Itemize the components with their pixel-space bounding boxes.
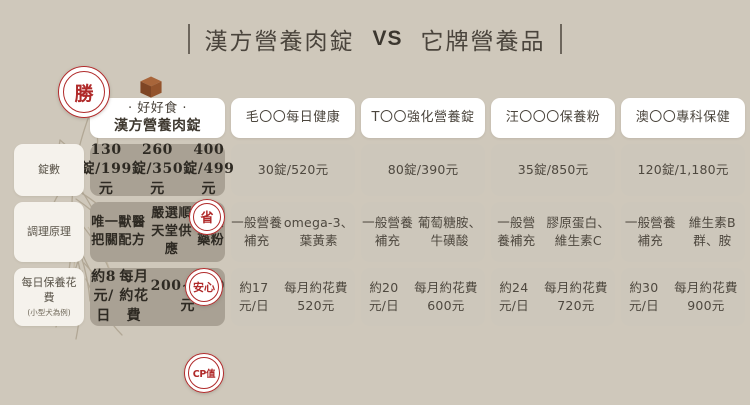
- title-vs: VS: [368, 27, 406, 51]
- badge-win-label: 勝: [63, 71, 105, 113]
- column-header-own-line1: · 好好食 ·: [114, 101, 201, 117]
- row-label-tablet-count-text: 錠數: [38, 163, 60, 178]
- cell-rival1-tablet-count: 30錠/520元: [231, 144, 355, 196]
- cell-rival4-tablet-count: 120錠/1,180元: [621, 144, 745, 196]
- badge-save: 省: [189, 199, 225, 235]
- title-left-bar: [188, 24, 190, 54]
- row-label-principle: 調理原理: [14, 202, 84, 262]
- meat-tablet-cube-icon: [138, 74, 164, 100]
- cell-rival2-principle: 一般營養補充葡萄糖胺、牛磺酸: [361, 202, 485, 262]
- row-label-principle-text: 調理原理: [27, 225, 71, 240]
- cell-rival4-daily-cost: 約30元/日每月約花費900元: [621, 268, 745, 326]
- title-right-bar: [560, 24, 562, 54]
- row-label-daily-cost-text: 每日保養花費: [17, 276, 81, 306]
- cell-rival4-principle: 一般營養補充維生素B群、胺: [621, 202, 745, 262]
- column-header-rival2: T〇〇強化營養錠: [361, 98, 485, 138]
- column-header-own: · 好好食 · 漢方營養肉錠: [90, 98, 225, 138]
- cell-rival3-principle: 一般營養補充膠原蛋白、維生素C: [491, 202, 615, 262]
- row-label-daily-cost-note: (小型犬為例): [27, 308, 70, 318]
- cell-rival1-daily-cost: 約17元/日每月約花費520元: [231, 268, 355, 326]
- comparison-infographic: 漢方營養肉錠 VS 它牌營養品 勝 省 安心 CP值 · 好好食 · 漢方營養肉…: [0, 0, 750, 405]
- column-header-rival4: 澳〇〇專科保健: [621, 98, 745, 138]
- cell-rival3-tablet-count: 35錠/850元: [491, 144, 615, 196]
- row-label-tablet-count: 錠數: [14, 144, 84, 196]
- column-header-rival3: 汪〇〇〇保養粉: [491, 98, 615, 138]
- cell-rival2-daily-cost: 約20元/日每月約花費600元: [361, 268, 485, 326]
- badge-save-label: 省: [193, 203, 222, 232]
- badge-cp-label: CP值: [188, 357, 220, 389]
- page-title: 漢方營養肉錠 VS 它牌營養品: [0, 18, 750, 60]
- badge-cp: CP值: [184, 353, 224, 393]
- cell-own-tablet-count: 130錠/199元260錠/350元400錠/499元: [90, 144, 225, 196]
- column-header-rival1: 毛〇〇每日健康: [231, 98, 355, 138]
- comparison-table: · 好好食 · 漢方營養肉錠 毛〇〇每日健康 T〇〇強化營養錠 汪〇〇〇保養粉 …: [14, 98, 740, 368]
- badge-safe: 安心: [185, 268, 223, 306]
- title-product: 漢方營養肉錠: [204, 22, 354, 56]
- cell-rival2-tablet-count: 80錠/390元: [361, 144, 485, 196]
- cell-rival1-principle: 一般營養補充omega-3、葉黃素: [231, 202, 355, 262]
- cell-rival3-daily-cost: 約24元/日每月約花費720元: [491, 268, 615, 326]
- column-header-own-line2: 漢方營養肉錠: [114, 117, 201, 135]
- title-competitors: 它牌營養品: [421, 22, 546, 56]
- badge-win: 勝: [58, 66, 110, 118]
- row-label-daily-cost: 每日保養花費 (小型犬為例): [14, 268, 84, 326]
- badge-safe-label: 安心: [189, 272, 219, 302]
